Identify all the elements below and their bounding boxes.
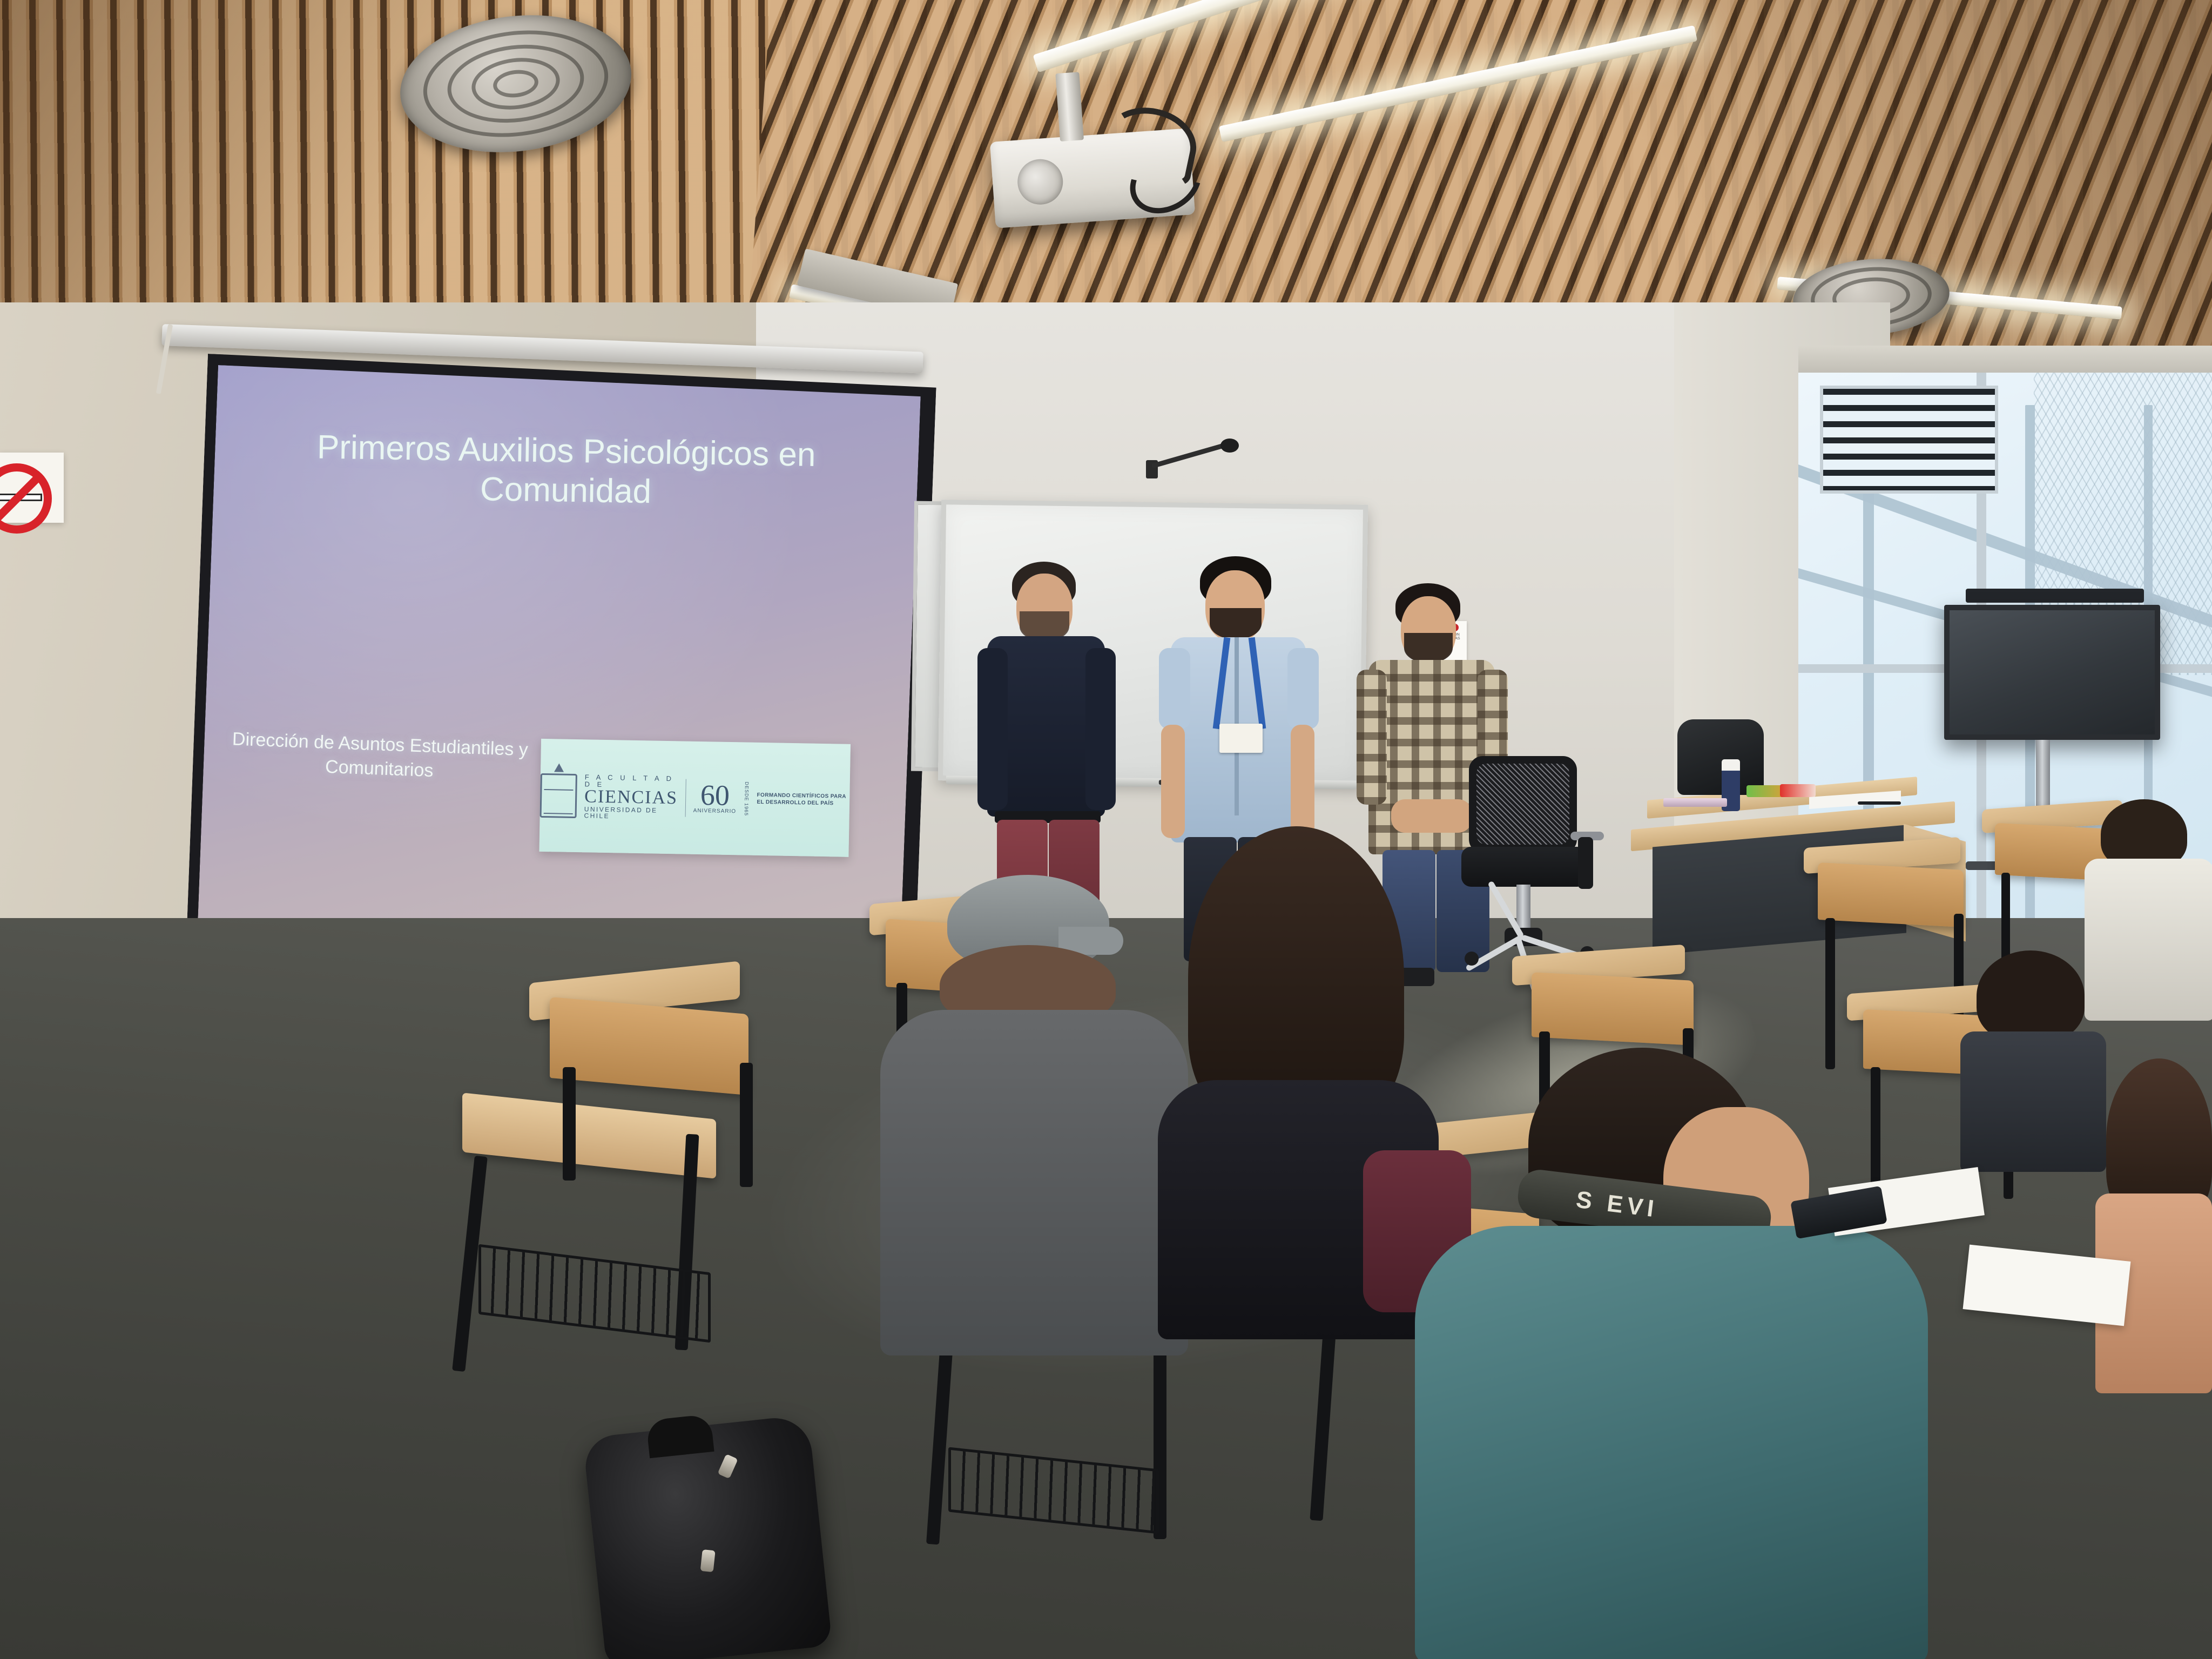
chair-seat bbox=[462, 1092, 716, 1178]
backpack-on-desk[interactable] bbox=[1677, 719, 1764, 795]
chair-mesh bbox=[1476, 764, 1569, 845]
tv-mount-bar bbox=[1966, 589, 2144, 603]
backpack-on-floor[interactable] bbox=[583, 1414, 833, 1659]
chair-backrest bbox=[550, 997, 748, 1095]
chair-seat bbox=[1461, 847, 1587, 887]
chair-gas-lift bbox=[1516, 885, 1530, 932]
faculty-logo: F A C U L T A D D E CIENCIAS UNIVERSIDAD… bbox=[539, 739, 850, 857]
sleeve-right bbox=[1287, 648, 1319, 729]
projector-lens bbox=[1016, 158, 1064, 206]
slide-subtitle: Dirección de Asuntos Estudiantiles y Com… bbox=[224, 727, 535, 787]
notebook-stack[interactable] bbox=[1663, 798, 1727, 807]
logo-name: CIENCIAS bbox=[584, 787, 678, 807]
torso-tshirt bbox=[880, 1010, 1188, 1355]
hair bbox=[1977, 950, 2085, 1042]
window-header-beam bbox=[1798, 346, 2212, 376]
student-front: S EVI bbox=[1318, 1048, 1955, 1659]
arm-left bbox=[977, 648, 1008, 810]
tablet-arm-chair[interactable] bbox=[448, 972, 826, 1458]
student-far-right bbox=[2085, 799, 2212, 1026]
anniversary-number: 60 bbox=[700, 782, 730, 809]
projected-slide: Primeros Auxilios Psicológicos en Comuni… bbox=[198, 365, 921, 955]
backpack-zipper bbox=[700, 1549, 716, 1572]
tv-monitor[interactable] bbox=[1944, 605, 2160, 740]
anniversary-since: DESDE 1965 bbox=[744, 782, 750, 817]
torso bbox=[1960, 1031, 2106, 1172]
snack-packet[interactable] bbox=[1780, 784, 1816, 797]
classroom-scene: Primeros Auxilios Psicológicos en Comuni… bbox=[0, 0, 2212, 1659]
student-far-right-2 bbox=[2095, 1058, 2212, 1393]
wall-mounted-camera-arm bbox=[1150, 439, 1237, 476]
logo-divider bbox=[685, 779, 686, 817]
university-crest-icon bbox=[539, 773, 577, 818]
beard bbox=[1404, 633, 1453, 663]
slide-title: Primeros Auxilios Psicológicos en Comuni… bbox=[256, 427, 876, 515]
torso bbox=[2085, 859, 2212, 1021]
window-louvre-vent bbox=[1820, 386, 1998, 494]
chair-arm-post bbox=[1578, 837, 1593, 889]
backpack-zipper bbox=[718, 1454, 738, 1479]
sleeve-left bbox=[1159, 648, 1190, 729]
lanyard-text: S EVI bbox=[1575, 1186, 1660, 1223]
sleeve-left bbox=[1357, 670, 1387, 805]
office-chair[interactable] bbox=[1458, 756, 1604, 983]
snack-packet[interactable] bbox=[1746, 785, 1784, 797]
name-badge bbox=[1219, 724, 1263, 753]
arm-right bbox=[1085, 648, 1116, 810]
forearm-left bbox=[1161, 725, 1185, 838]
logo-institution: UNIVERSIDAD DE CHILE bbox=[584, 806, 677, 820]
logo-tagline: FORMANDO CIENTÍFICOS PARA EL DESARROLLO … bbox=[757, 792, 849, 807]
pen[interactable] bbox=[1858, 801, 1901, 805]
torso-tshirt bbox=[1415, 1226, 1928, 1659]
ceiling-projector bbox=[990, 128, 1195, 228]
beard bbox=[1210, 608, 1262, 639]
projector-mount-pole bbox=[1055, 72, 1084, 141]
no-smoking-sign bbox=[0, 453, 64, 523]
anniversary-label: ANIVERSARIO bbox=[693, 808, 737, 814]
forearm-right bbox=[1291, 725, 1314, 838]
chair-book-basket bbox=[478, 1244, 711, 1343]
